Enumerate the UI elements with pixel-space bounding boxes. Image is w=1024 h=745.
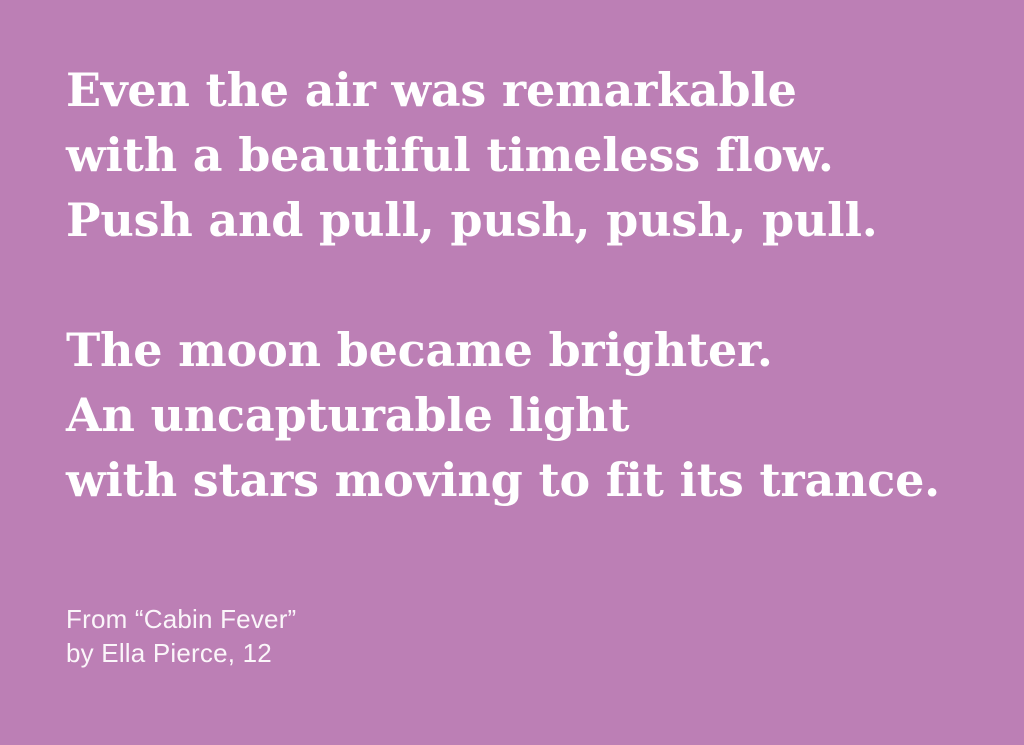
poem-line: Push and pull, push, push, pull. [66, 188, 966, 253]
poem-line: An uncapturable light [66, 383, 966, 448]
attribution-author: by Ella Pierce, 12 [66, 636, 296, 670]
attribution-block: From “Cabin Fever” by Ella Pierce, 12 [66, 602, 296, 670]
poem-card: Even the air was remarkable with a beaut… [0, 0, 1024, 745]
poem-text-block: Even the air was remarkable with a beaut… [66, 58, 966, 513]
poem-line: with a beautiful timeless flow. [66, 123, 966, 188]
poem-line: with stars moving to fit its trance. [66, 448, 966, 513]
stanza-2: The moon became brighter. An uncapturabl… [66, 318, 966, 513]
stanza-1: Even the air was remarkable with a beaut… [66, 58, 966, 253]
attribution-source-title: From “Cabin Fever” [66, 602, 296, 636]
poem-line: Even the air was remarkable [66, 58, 966, 123]
poem-line: The moon became brighter. [66, 318, 966, 383]
